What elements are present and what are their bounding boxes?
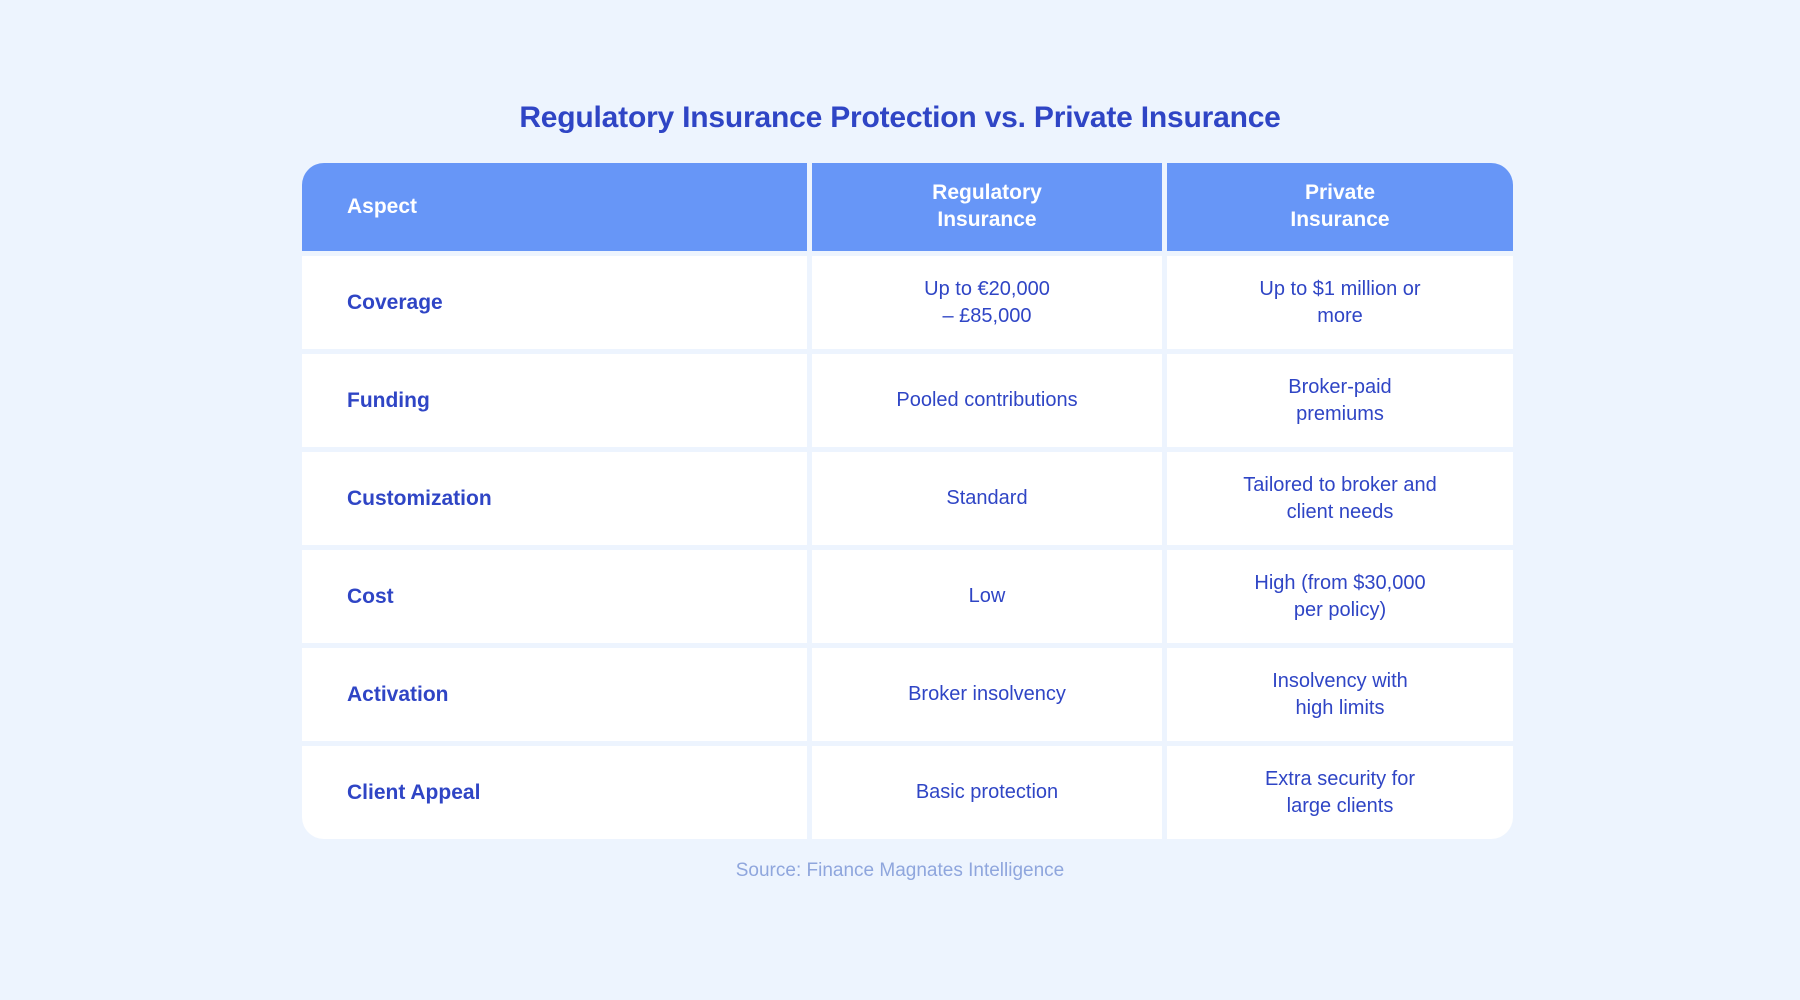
cell-regulatory-line-1: Broker insolvency — [908, 683, 1066, 705]
cell-aspect: Customization — [302, 452, 807, 545]
cell-private-line-2: per policy) — [1294, 599, 1386, 621]
cell-private: Broker-paid premiums — [1167, 354, 1513, 447]
cell-aspect: Coverage — [302, 256, 807, 349]
cell-private-line-1: High (from $30,000 — [1254, 572, 1425, 594]
cell-private-line-2: more — [1317, 305, 1363, 327]
column-header-aspect-line-1: Aspect — [347, 195, 417, 218]
cell-regulatory: Standard — [812, 452, 1162, 545]
cell-aspect: Funding — [302, 354, 807, 447]
cell-private-line-2: large clients — [1287, 795, 1394, 817]
column-header-regulatory-line-2: Insurance — [937, 208, 1036, 231]
cell-private-line-2: high limits — [1296, 697, 1385, 719]
cell-private-line-1: Extra security for — [1265, 768, 1415, 790]
cell-private: Extra security for large clients — [1167, 746, 1513, 839]
table-row: Funding Pooled contributions Broker-paid… — [302, 354, 1513, 447]
comparison-table-page: Regulatory Insurance Protection vs. Priv… — [0, 0, 1800, 1000]
cell-regulatory: Up to €20,000 – £85,000 — [812, 256, 1162, 349]
cell-regulatory-line-1: Basic protection — [916, 781, 1058, 803]
cell-regulatory-line-1: Pooled contributions — [896, 389, 1077, 411]
cell-private-line-1: Up to $1 million or — [1259, 278, 1420, 300]
table-row: Customization Standard Tailored to broke… — [302, 452, 1513, 545]
cell-aspect: Cost — [302, 550, 807, 643]
column-header-private-insurance: Private Insurance — [1167, 163, 1513, 251]
cell-aspect: Activation — [302, 648, 807, 741]
cell-regulatory-line-1: Standard — [946, 487, 1027, 509]
table-row: Client Appeal Basic protection Extra sec… — [302, 746, 1513, 839]
comparison-table: Aspect Regulatory Insurance Private Insu… — [297, 158, 1518, 844]
cell-regulatory-line-1: Up to €20,000 — [924, 278, 1050, 300]
column-header-regulatory-insurance: Regulatory Insurance — [812, 163, 1162, 251]
cell-private: Tailored to broker and client needs — [1167, 452, 1513, 545]
comparison-table-container: Aspect Regulatory Insurance Private Insu… — [297, 158, 1503, 844]
table-header-row: Aspect Regulatory Insurance Private Insu… — [302, 163, 1513, 251]
cell-regulatory-line-1: Low — [969, 585, 1006, 607]
cell-regulatory: Broker insolvency — [812, 648, 1162, 741]
cell-private-line-1: Insolvency with — [1272, 670, 1408, 692]
table-row: Cost Low High (from $30,000 per policy) — [302, 550, 1513, 643]
cell-aspect: Client Appeal — [302, 746, 807, 839]
page-title: Regulatory Insurance Protection vs. Priv… — [519, 100, 1280, 136]
cell-private-line-1: Broker-paid — [1288, 376, 1391, 398]
table-body: Coverage Up to €20,000 – £85,000 Up to $… — [302, 256, 1513, 839]
cell-private-line-2: client needs — [1287, 501, 1394, 523]
cell-private-line-2: premiums — [1296, 403, 1384, 425]
cell-regulatory: Low — [812, 550, 1162, 643]
cell-regulatory: Basic protection — [812, 746, 1162, 839]
column-header-aspect: Aspect — [302, 163, 807, 251]
column-header-private-line-1: Private — [1305, 181, 1375, 204]
table-row: Coverage Up to €20,000 – £85,000 Up to $… — [302, 256, 1513, 349]
cell-regulatory: Pooled contributions — [812, 354, 1162, 447]
cell-private-line-1: Tailored to broker and — [1243, 474, 1436, 496]
cell-private: Insolvency with high limits — [1167, 648, 1513, 741]
table-header: Aspect Regulatory Insurance Private Insu… — [302, 163, 1513, 251]
cell-regulatory-line-2: – £85,000 — [943, 305, 1032, 327]
column-header-private-line-2: Insurance — [1290, 208, 1389, 231]
cell-private: Up to $1 million or more — [1167, 256, 1513, 349]
source-caption: Source: Finance Magnates Intelligence — [736, 860, 1064, 882]
column-header-regulatory-line-1: Regulatory — [932, 181, 1042, 204]
table-row: Activation Broker insolvency Insolvency … — [302, 648, 1513, 741]
cell-private: High (from $30,000 per policy) — [1167, 550, 1513, 643]
